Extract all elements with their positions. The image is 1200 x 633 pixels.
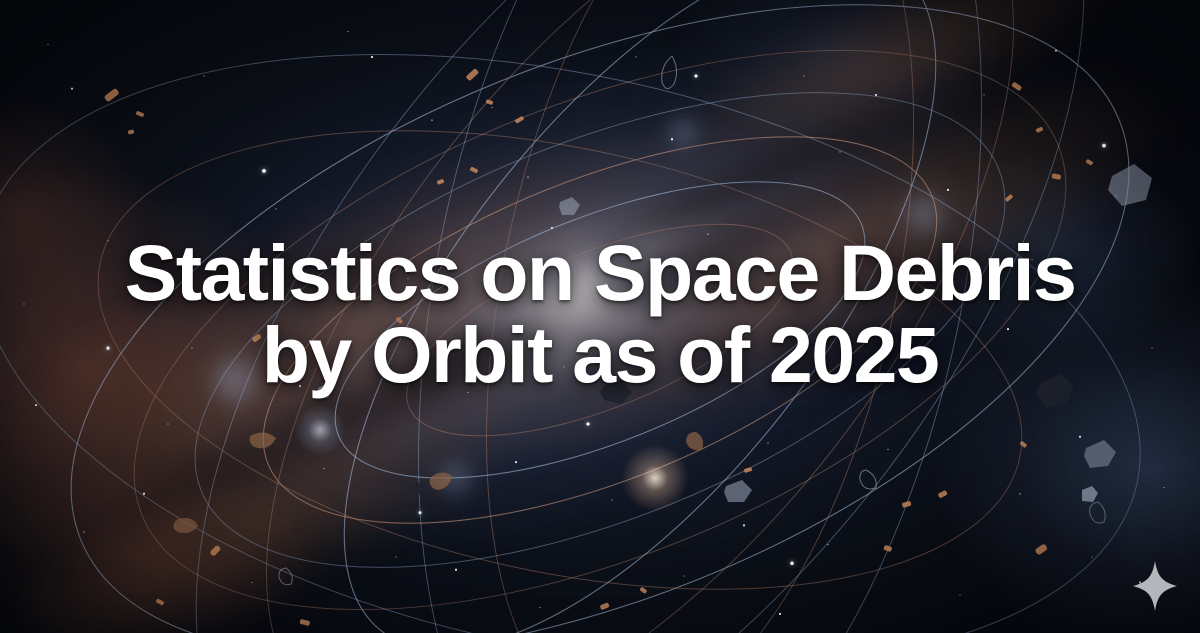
title-line-1: Statistics on Space Debris bbox=[40, 232, 1160, 314]
title-line-2: by Orbit as of 2025 bbox=[40, 314, 1160, 396]
page-title: Statistics on Space Debris by Orbit as o… bbox=[0, 232, 1200, 396]
sparkle-icon bbox=[1133, 561, 1177, 611]
space-debris-title-card: Statistics on Space Debris by Orbit as o… bbox=[0, 0, 1200, 633]
